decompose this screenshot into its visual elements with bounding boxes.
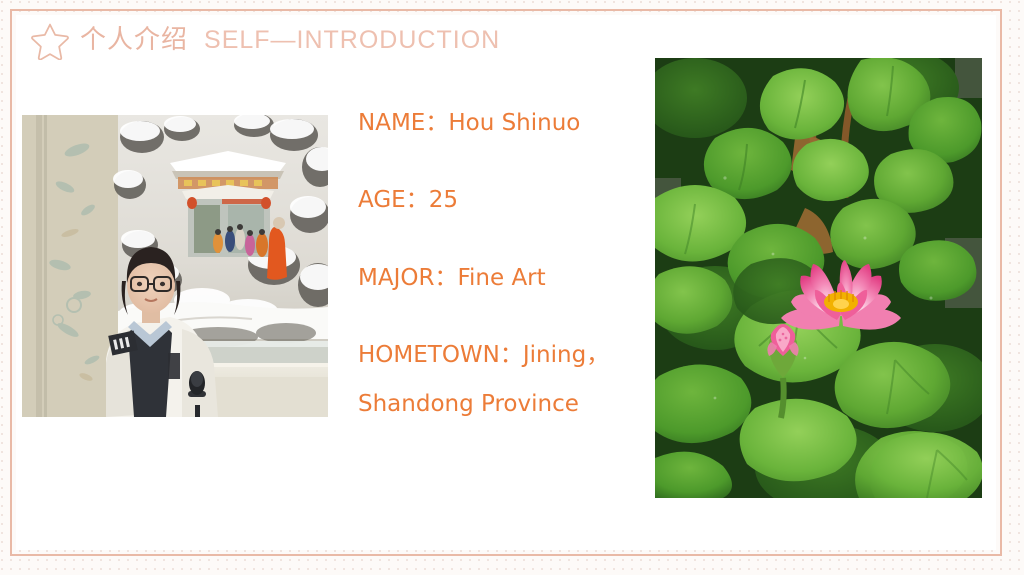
info-label-age: AGE: [358, 187, 406, 213]
info-row-age: AGE：25: [358, 187, 648, 213]
info-block: NAME：Hou Shinuo AGE：25 MAJOR：Fine Art HO…: [358, 110, 648, 417]
header-title-en: SELF—INTRODUCTION: [204, 28, 500, 53]
info-colon-hometown: ：: [500, 342, 523, 368]
info-value-hometown-cont: Shandong Province: [358, 391, 579, 417]
info-row-hometown-cont: Shandong Province: [358, 391, 648, 417]
header-title-cn: 个人介绍: [80, 27, 188, 53]
info-colon-name: ：: [425, 110, 448, 136]
info-colon-major: ：: [434, 265, 457, 291]
star-outline-icon: [30, 20, 70, 60]
lotus-pond-photo: [655, 58, 982, 498]
info-value-hometown: Jining，: [523, 342, 609, 368]
portrait-photo-art: [22, 115, 328, 417]
slide: 个人介绍 SELF—INTRODUCTION: [0, 0, 1024, 575]
slide-header: 个人介绍 SELF—INTRODUCTION: [30, 20, 500, 60]
info-row-hometown: HOMETOWN：Jining，: [358, 342, 648, 368]
info-row-name: NAME：Hou Shinuo: [358, 110, 648, 136]
info-value-major: Fine Art: [457, 265, 545, 291]
info-value-name: Hou Shinuo: [448, 110, 580, 136]
info-colon-age: ：: [406, 187, 429, 213]
info-row-major: MAJOR：Fine Art: [358, 265, 648, 291]
portrait-photo: [22, 115, 328, 417]
info-label-name: NAME: [358, 110, 425, 136]
info-label-hometown: HOMETOWN: [358, 342, 500, 368]
lotus-photo-art: [655, 58, 982, 498]
info-value-age: 25: [429, 187, 458, 213]
info-label-major: MAJOR: [358, 265, 434, 291]
